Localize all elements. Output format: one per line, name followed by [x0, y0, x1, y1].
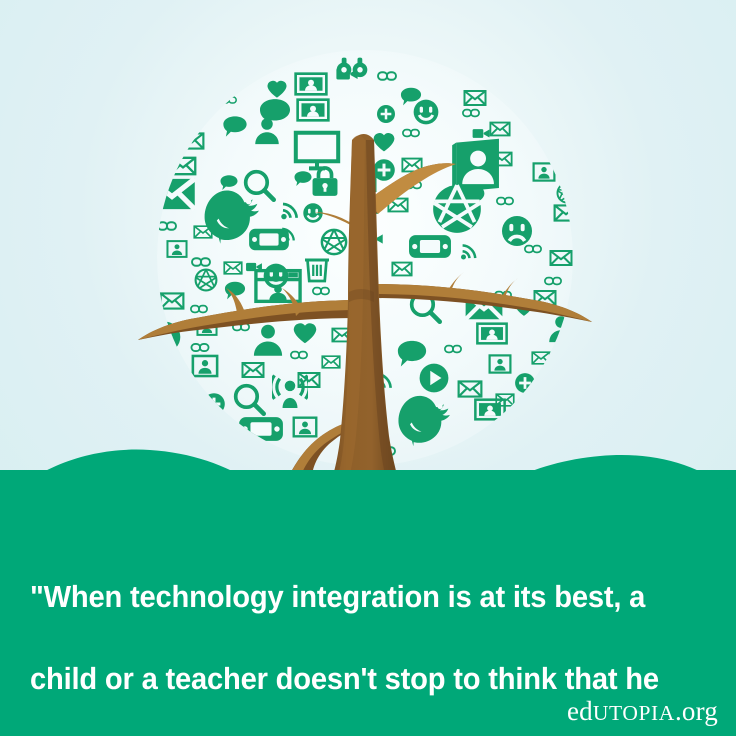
logo-part-lead: ed: [567, 696, 593, 726]
poster-canvas: "When technology integration is at its b…: [0, 0, 736, 736]
quote-line-2: child or a teacher doesn't stop to think…: [30, 659, 679, 700]
logo-part-tld: .org: [675, 696, 718, 726]
edutopia-logo[interactable]: edUTOPIA.org: [567, 696, 718, 728]
logo-part-caps: UTOPIA: [593, 701, 675, 725]
quote-line-1: "When technology integration is at its b…: [30, 577, 679, 618]
